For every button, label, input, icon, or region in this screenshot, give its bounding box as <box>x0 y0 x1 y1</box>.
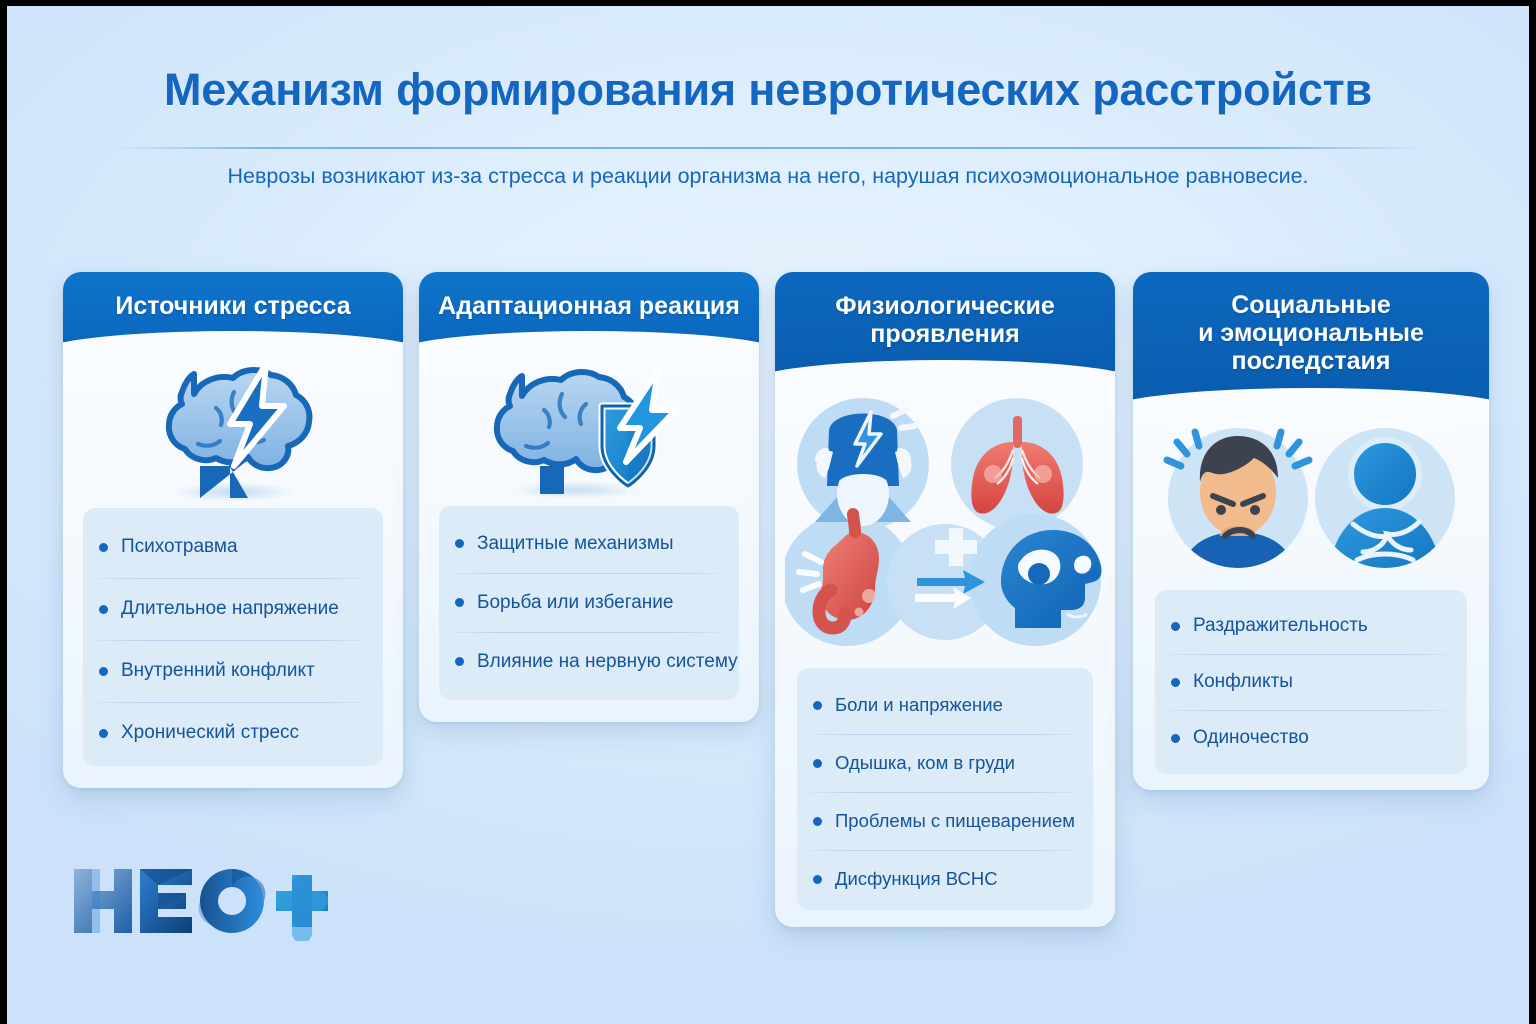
list-box-adaptive-reaction: Защитные механизмы Борьба или избегание … <box>439 506 739 700</box>
bullet-icon <box>813 701 822 710</box>
list-item-label: Одышка, ком в груди <box>835 752 1015 774</box>
card-header-sources-of-stress: Источники стресса <box>63 272 403 354</box>
title-divider <box>113 147 1423 149</box>
bullet-icon <box>813 817 822 826</box>
page-title: Механизм формирования невротических расс… <box>7 64 1529 116</box>
bullet-icon <box>99 543 108 552</box>
list-item[interactable]: Раздражительность <box>1161 598 1461 654</box>
list-item[interactable]: Дисфункция ВСНС <box>803 850 1087 908</box>
card-header-physiological-manifestations: Физиологические проявления <box>775 272 1115 382</box>
list-item-label: Боли и напряжение <box>835 694 1003 716</box>
card-title-line-1: Физиологические <box>835 292 1055 320</box>
card-title-adaptive-reaction: Адаптационная реакция <box>438 292 740 320</box>
list-item[interactable]: Проблемы с пищеварением <box>803 792 1087 850</box>
icon-area-physiological-manifestations <box>775 390 1115 660</box>
list-item[interactable]: Одышка, ком в груди <box>803 734 1087 792</box>
list-item-label: Влияние на нервную систему <box>477 651 738 673</box>
list-box-physiological-manifestations: Боли и напряжение Одышка, ком в груди Пр… <box>797 668 1093 910</box>
icon-area-adaptive-reaction <box>419 358 759 498</box>
angry-person-icon <box>1167 428 1309 580</box>
list-item-label: Защитные механизмы <box>477 533 674 555</box>
icon-area-sources-of-stress <box>63 360 403 500</box>
bullet-icon <box>455 539 464 548</box>
bullet-icon <box>813 875 822 884</box>
list-item-label: Дисфункция ВСНС <box>835 868 998 890</box>
card-social-emotional-consequences[interactable]: Социальные и эмоциональные последстаия <box>1133 272 1489 790</box>
card-title-line-2: и эмоциональные <box>1198 319 1424 347</box>
bullet-icon <box>99 605 108 614</box>
list-item[interactable]: Борьба или избегание <box>445 573 733 632</box>
card-adaptive-reaction[interactable]: Адаптационная реакция <box>419 272 759 722</box>
list-item-label: Раздражительность <box>1193 615 1368 637</box>
infographic-canvas: Механизм формирования невротических расс… <box>0 0 1536 1024</box>
brain-shield-lightning-icon <box>480 362 698 507</box>
bullet-icon <box>99 667 108 676</box>
list-item[interactable]: Внутренний конфликт <box>89 640 377 702</box>
list-item[interactable]: Конфликты <box>1161 654 1461 710</box>
list-item-label: Внутренний конфликт <box>121 660 315 682</box>
list-item-label: Длительное напряжение <box>121 598 339 620</box>
list-item-label: Одиночество <box>1193 727 1309 749</box>
people-icon-cluster <box>1161 420 1461 585</box>
card-title-sources-of-stress: Источники стресса <box>115 292 350 320</box>
bullet-icon <box>813 759 822 768</box>
brain-lightning-icon <box>138 362 328 509</box>
card-header-adaptive-reaction: Адаптационная реакция <box>419 272 759 354</box>
icon-area-social-emotional-consequences <box>1133 420 1489 590</box>
list-item[interactable]: Защитные механизмы <box>445 514 733 573</box>
list-item[interactable]: Психотравма <box>89 516 377 578</box>
card-physiological-manifestations[interactable]: Физиологические проявления <box>775 272 1115 927</box>
list-item-label: Конфликты <box>1193 671 1293 693</box>
card-sources-of-stress[interactable]: Источники стресса <box>63 272 403 788</box>
list-item-label: Психотравма <box>121 536 238 558</box>
list-item[interactable]: Длительное напряжение <box>89 578 377 640</box>
bullet-icon <box>455 598 464 607</box>
head-profile-icon <box>1001 530 1102 628</box>
list-item-label: Проблемы с пищеварением <box>835 810 1075 832</box>
list-item[interactable]: Влияние на нервную систему <box>445 632 733 691</box>
bullet-icon <box>1171 622 1180 631</box>
physiological-icon-cluster <box>785 390 1105 665</box>
list-item-label: Борьба или избегание <box>477 592 674 614</box>
list-item[interactable]: Одиночество <box>1161 710 1461 766</box>
card-title-line-1: Социальные <box>1231 291 1391 319</box>
list-item[interactable]: Хронический стресс <box>89 702 377 764</box>
card-title-physiological-manifestations: Физиологические проявления <box>835 292 1055 348</box>
card-header-social-emotional-consequences: Социальные и эмоциональные последстаия <box>1133 272 1489 412</box>
bullet-icon <box>1171 734 1180 743</box>
bullet-icon <box>99 729 108 738</box>
neo-plus-logo[interactable] <box>70 861 330 941</box>
card-title-line-2: проявления <box>870 320 1019 348</box>
list-box-sources-of-stress: Психотравма Длительное напряжение Внутре… <box>83 508 383 766</box>
bullet-icon <box>455 657 464 666</box>
list-item[interactable]: Боли и напряжение <box>803 676 1087 734</box>
sad-person-icon <box>1315 428 1455 580</box>
list-item-label: Хронический стресс <box>121 722 299 744</box>
card-title-line-3: последстаия <box>1232 347 1391 375</box>
list-box-social-emotional-consequences: Раздражительность Конфликты Одиночество <box>1155 590 1467 774</box>
card-title-social-emotional-consequences: Социальные и эмоциональные последстаия <box>1198 291 1424 375</box>
bullet-icon <box>1171 678 1180 687</box>
page-subtitle: Неврозы возникают из-за стресса и реакци… <box>7 164 1529 189</box>
